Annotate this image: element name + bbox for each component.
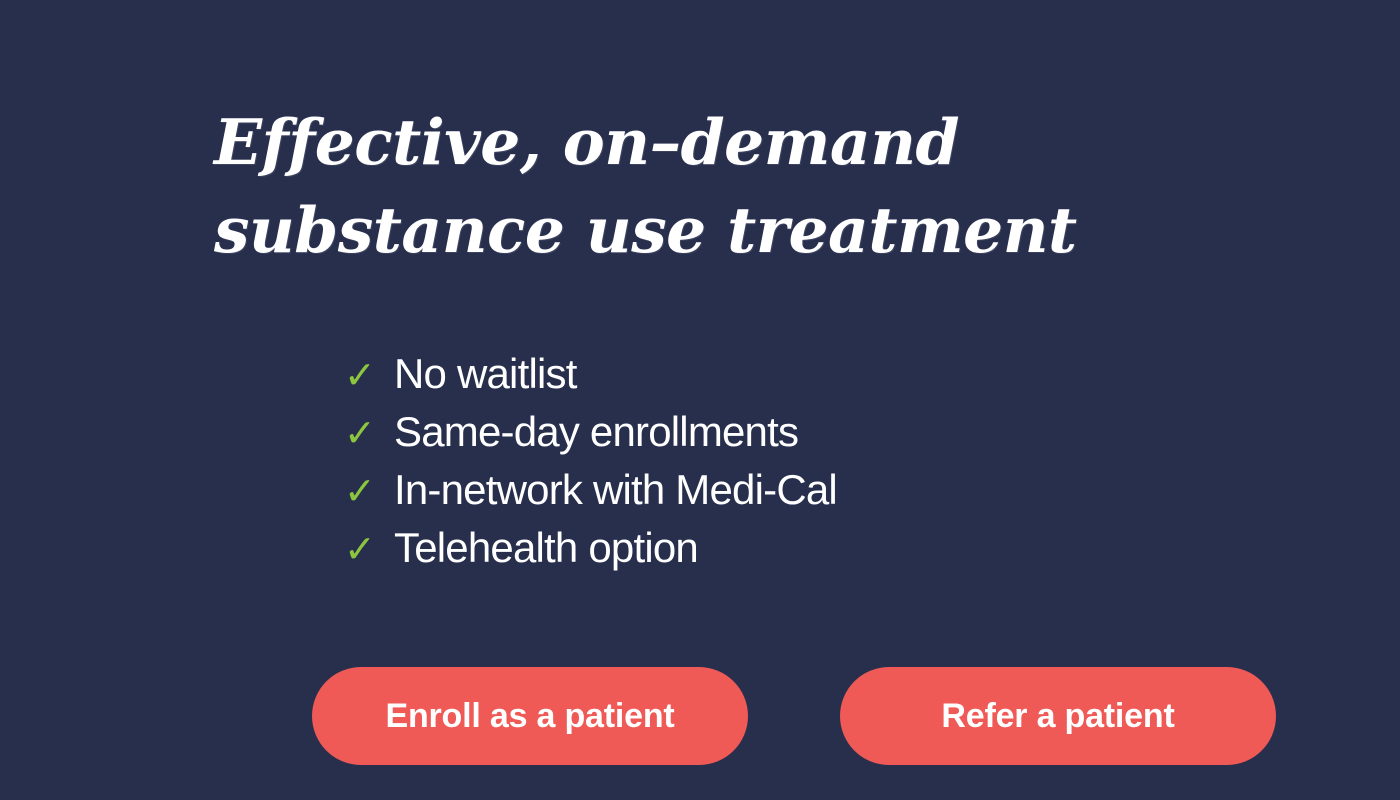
benefit-label: Telehealth option: [394, 519, 698, 577]
benefit-label: Same-day enrollments: [394, 403, 798, 461]
enroll-as-patient-button[interactable]: Enroll as a patient: [312, 667, 748, 765]
benefit-label: No waitlist: [394, 345, 577, 403]
refer-a-patient-button[interactable]: Refer a patient: [840, 667, 1276, 765]
list-item: ✓ Telehealth option: [344, 519, 837, 577]
list-item: ✓ In-network with Medi-Cal: [344, 461, 837, 519]
cta-button-row: Enroll as a patient Refer a patient: [0, 667, 1400, 765]
check-icon: ✓: [344, 404, 394, 462]
page-title: Effective, on–demand substance use treat…: [214, 98, 1224, 274]
check-icon: ✓: [344, 346, 394, 404]
list-item: ✓ Same-day enrollments: [344, 403, 837, 461]
hero-section: Effective, on–demand substance use treat…: [0, 0, 1400, 800]
check-icon: ✓: [344, 462, 394, 520]
list-item: ✓ No waitlist: [344, 345, 837, 403]
check-icon: ✓: [344, 520, 394, 578]
benefits-list: ✓ No waitlist ✓ Same-day enrollments ✓ I…: [344, 345, 837, 577]
benefit-label: In-network with Medi-Cal: [394, 461, 837, 519]
